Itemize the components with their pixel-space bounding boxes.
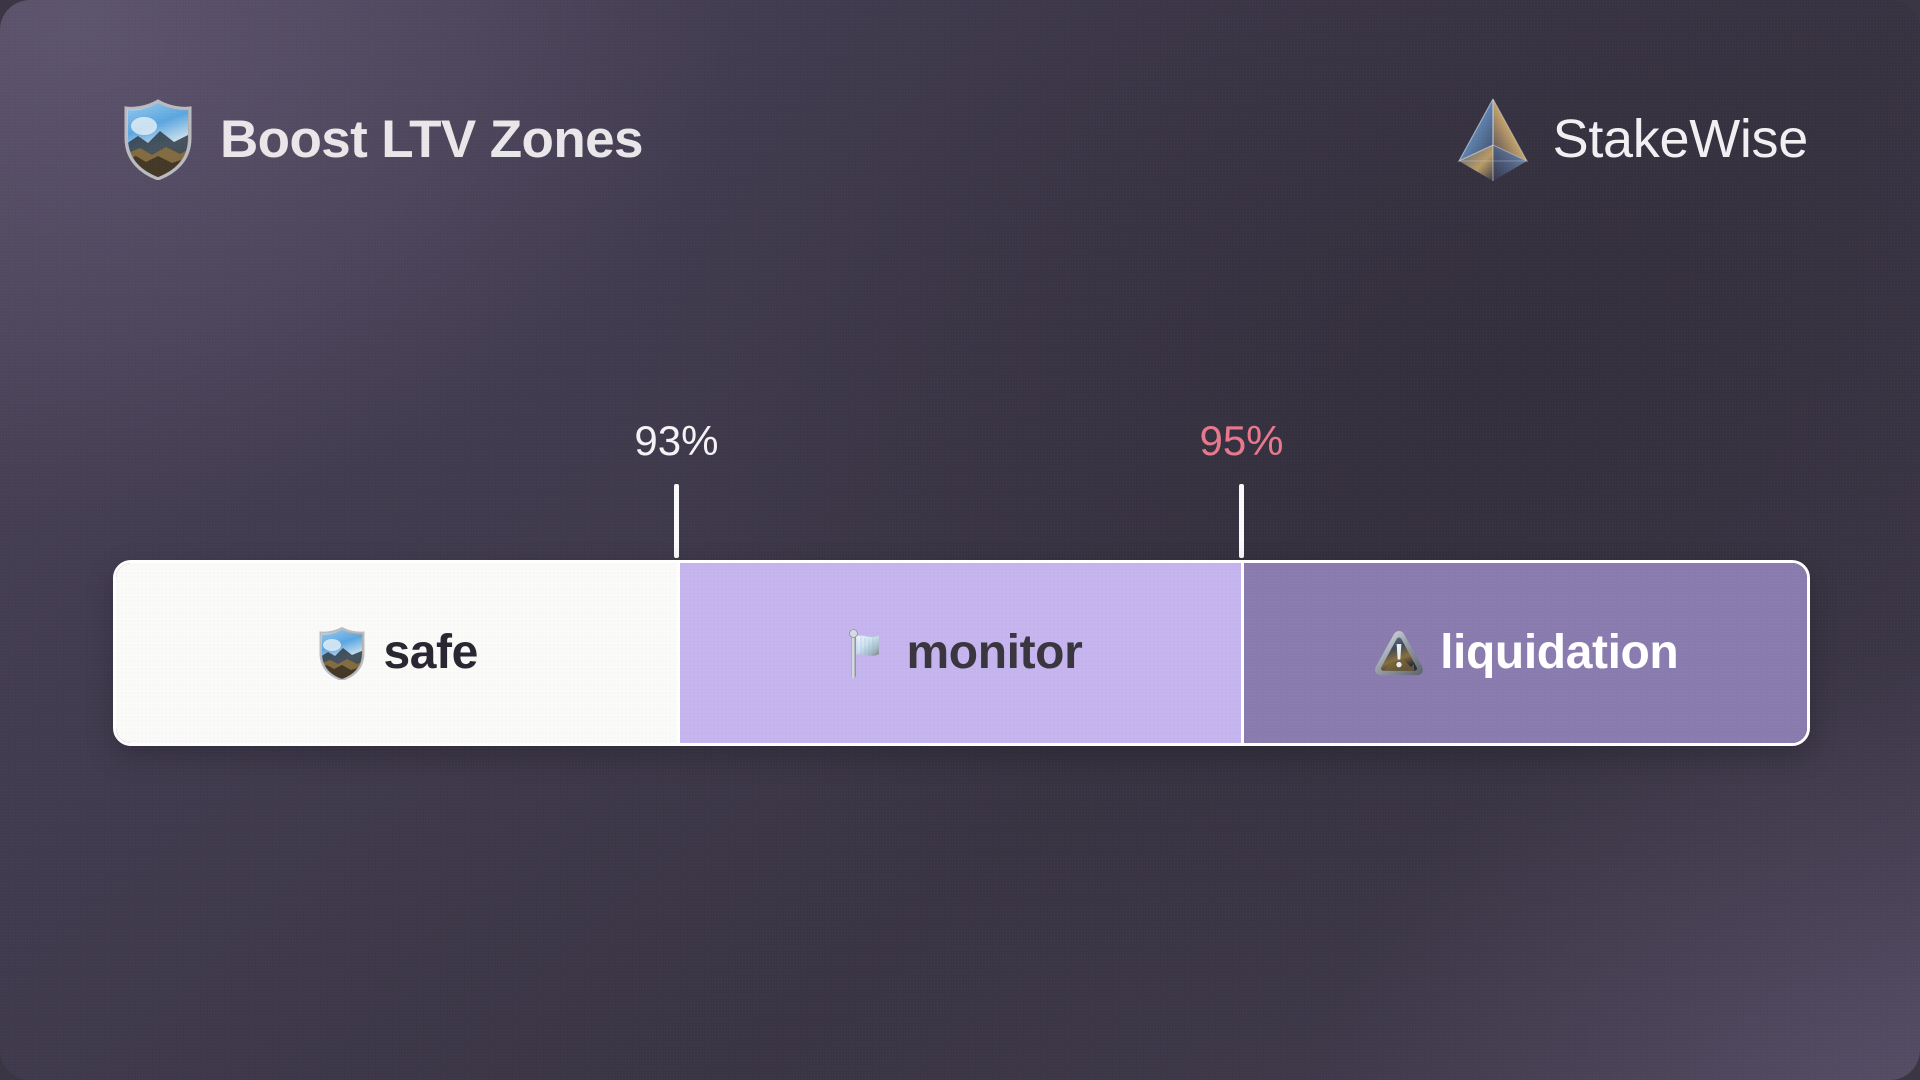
threshold-rule-95 (1239, 484, 1244, 558)
threshold-marker-93: 93% (591, 420, 761, 560)
threshold-marker-95: 95% (1157, 420, 1327, 560)
zone-segment-monitor[interactable]: monitor (677, 563, 1240, 743)
brand-group: StakeWise (1449, 93, 1808, 185)
shield-icon (315, 626, 369, 680)
zone-bar: safe (113, 560, 1810, 746)
ltv-zone-chart: 93% 95% (113, 420, 1810, 750)
zone-segment-liquidation[interactable]: liquidation (1241, 563, 1807, 743)
zone-label-liquidation: liquidation (1440, 629, 1678, 677)
zone-label-safe: safe (383, 629, 477, 677)
infographic-canvas: Boost LTV Zones (0, 0, 1920, 1080)
page-title: Boost LTV Zones (220, 113, 643, 166)
brand-name: StakeWise (1553, 112, 1808, 166)
threshold-rule-93 (674, 484, 679, 558)
white-flag-icon (839, 626, 893, 680)
header: Boost LTV Zones (118, 96, 1808, 182)
zone-segment-safe[interactable]: safe (116, 563, 677, 743)
shield-icon (118, 98, 198, 180)
threshold-label-95: 95% (1199, 420, 1283, 462)
threshold-label-93: 93% (634, 420, 718, 462)
stakewise-pyramid-logo-icon (1449, 93, 1537, 185)
warning-triangle-icon (1372, 626, 1426, 680)
zone-label-monitor: monitor (907, 629, 1083, 677)
title-group: Boost LTV Zones (118, 98, 643, 180)
